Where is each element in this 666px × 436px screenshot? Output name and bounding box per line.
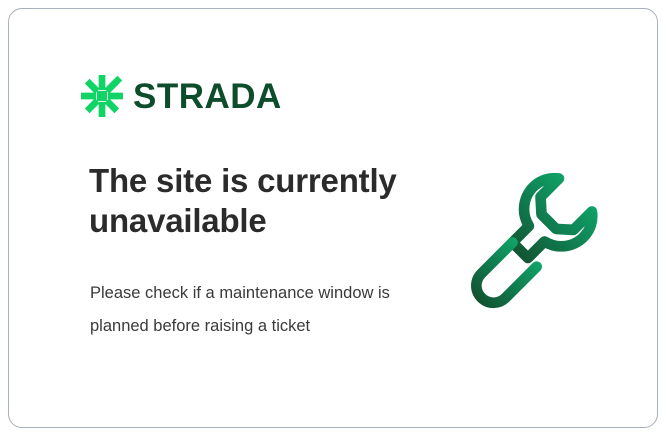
page-description: Please check if a maintenance window is … — [90, 277, 410, 343]
strada-asterisk-icon — [81, 75, 123, 117]
error-page: STRADA The site is currently unavailable… — [0, 0, 666, 436]
wrench-icon — [464, 164, 619, 319]
brand-name: STRADA — [133, 79, 282, 114]
brand-lockup: STRADA — [81, 75, 282, 117]
error-card: STRADA The site is currently unavailable… — [8, 8, 658, 428]
page-title: The site is currently unavailable — [89, 161, 419, 242]
